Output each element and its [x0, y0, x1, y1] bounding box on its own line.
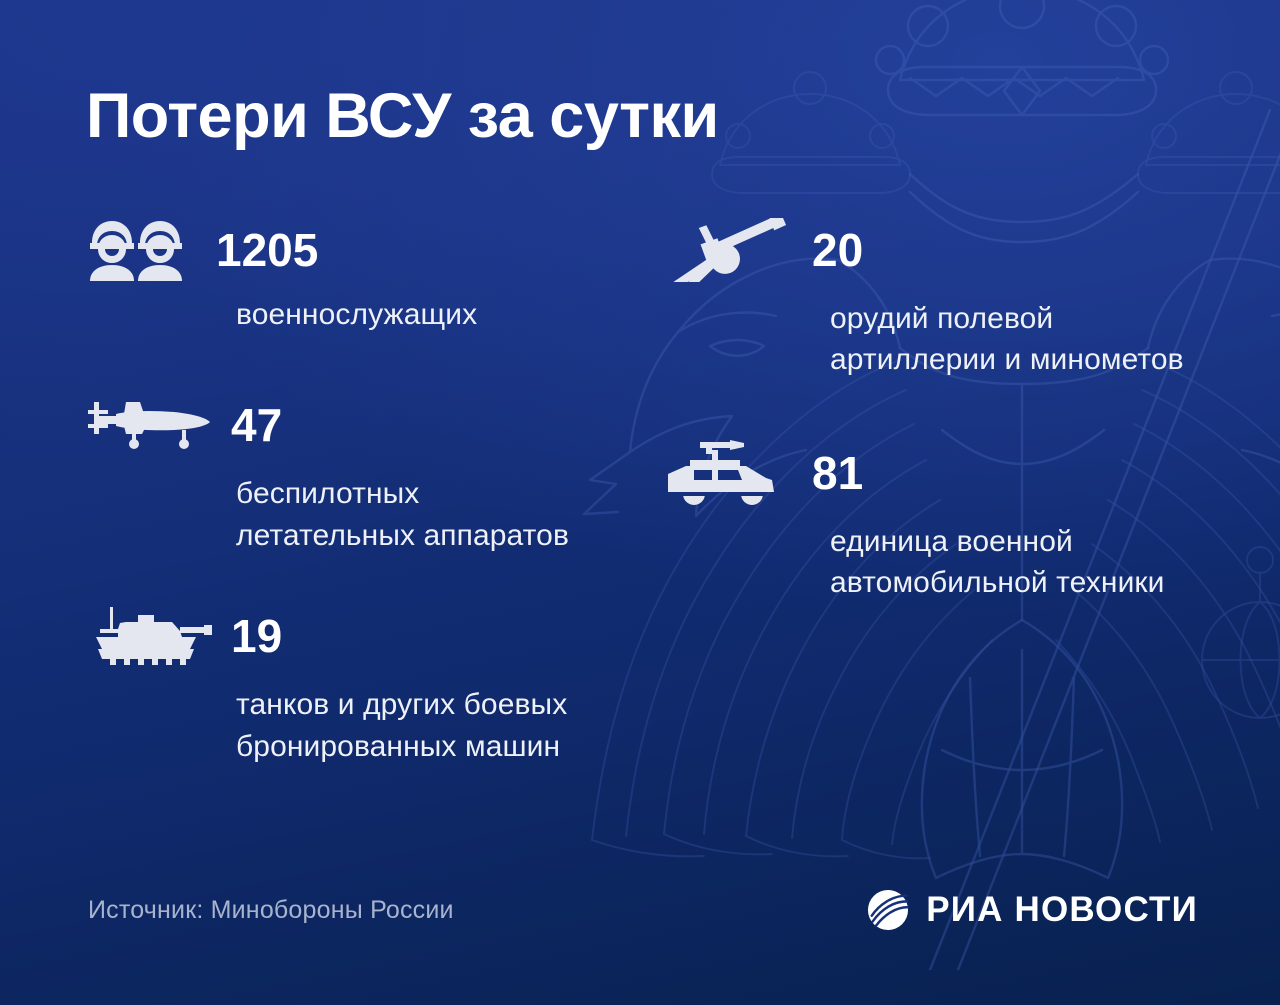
ria-novosti-wordmark: РИА НОВОСТИ [926, 890, 1198, 930]
stat-item-artillery: 20 орудий полевой артиллерии и минометов [660, 214, 1200, 381]
stats-left-column: 1205 военнослужащих [86, 214, 606, 767]
stat-item-military-vehicle: 81 единица военной автомобильной техники [660, 437, 1200, 604]
stats-right-column: 20 орудий полевой артиллерии и минометов [660, 214, 1200, 604]
military-vehicle-icon [660, 437, 812, 509]
stat-value-artillery: 20 [812, 227, 863, 273]
tank-icon [86, 600, 231, 672]
stat-label-tank: танков и других боевых бронированных маш… [236, 684, 606, 767]
stat-item-uav: 47 беспилотных летательных аппаратов [86, 389, 606, 556]
page-title: Потери ВСУ за сутки [86, 80, 719, 152]
stat-value-uav: 47 [231, 402, 282, 448]
stat-item-tank: 19 танков и других боевых бронированных … [86, 600, 606, 767]
source-attribution: Источник: Минобороны России [88, 896, 454, 925]
artillery-icon [660, 214, 812, 286]
stat-label-artillery: орудий полевой артиллерии и минометов [830, 298, 1200, 381]
ria-swirl-icon [867, 889, 909, 931]
soldiers-icon [86, 214, 218, 286]
stat-value-personnel: 1205 [216, 227, 318, 273]
stat-value-tank: 19 [231, 613, 282, 659]
ria-novosti-logo: РИА НОВОСТИ [867, 889, 1198, 931]
stat-label-personnel: военнослужащих [236, 294, 606, 335]
stat-label-military-vehicle: единица военной автомобильной техники [830, 521, 1200, 604]
stat-value-military-vehicle: 81 [812, 450, 863, 496]
drone-icon [86, 389, 231, 461]
infographic-poster: Потери ВСУ за сутки [0, 0, 1280, 1005]
stat-label-uav: беспилотных летательных аппаратов [236, 473, 606, 556]
stat-item-personnel: 1205 военнослужащих [86, 214, 606, 335]
